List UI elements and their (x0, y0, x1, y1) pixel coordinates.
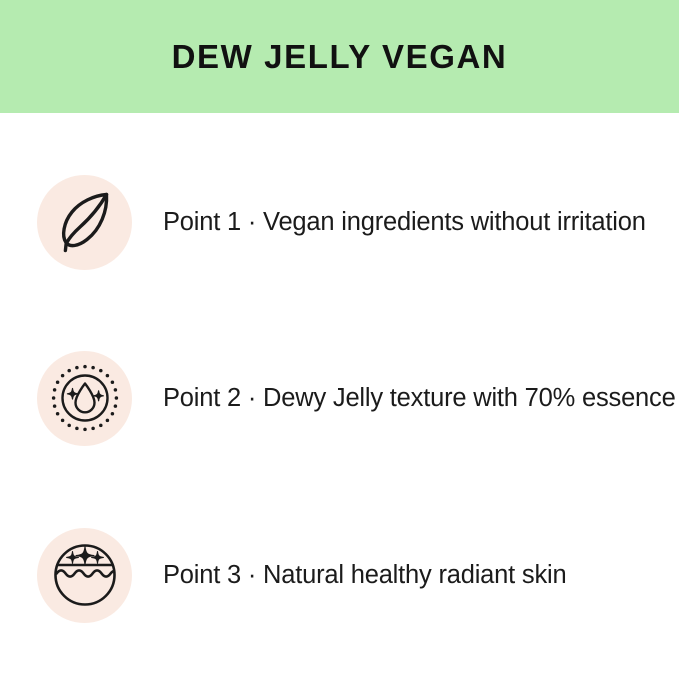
water-droplet-sparkle-icon (50, 363, 120, 433)
feature-row: Point 1 · Vegan ingredients without irri… (0, 174, 679, 270)
feature-label: Point 2 · Dewy Jelly texture with 70% es… (163, 383, 676, 414)
leaf-icon (54, 189, 116, 255)
product-feature-panel: DEW JELLY VEGAN Point 1 · Vegan ingredie… (0, 0, 679, 679)
feature-row: Point 2 · Dewy Jelly texture with 70% es… (0, 350, 679, 446)
feature-label: Point 3 · Natural healthy radiant skin (163, 560, 566, 591)
feature-label: Point 1 · Vegan ingredients without irri… (163, 207, 646, 238)
feature-row: Point 3 · Natural healthy radiant skin (0, 527, 679, 623)
icon-badge (37, 528, 132, 623)
icon-badge (37, 175, 132, 270)
header-band: DEW JELLY VEGAN (0, 0, 679, 113)
page-title: DEW JELLY VEGAN (172, 40, 508, 73)
feature-list: Point 1 · Vegan ingredients without irri… (0, 113, 679, 679)
radiant-skin-globe-icon (53, 543, 117, 607)
icon-badge (37, 351, 132, 446)
